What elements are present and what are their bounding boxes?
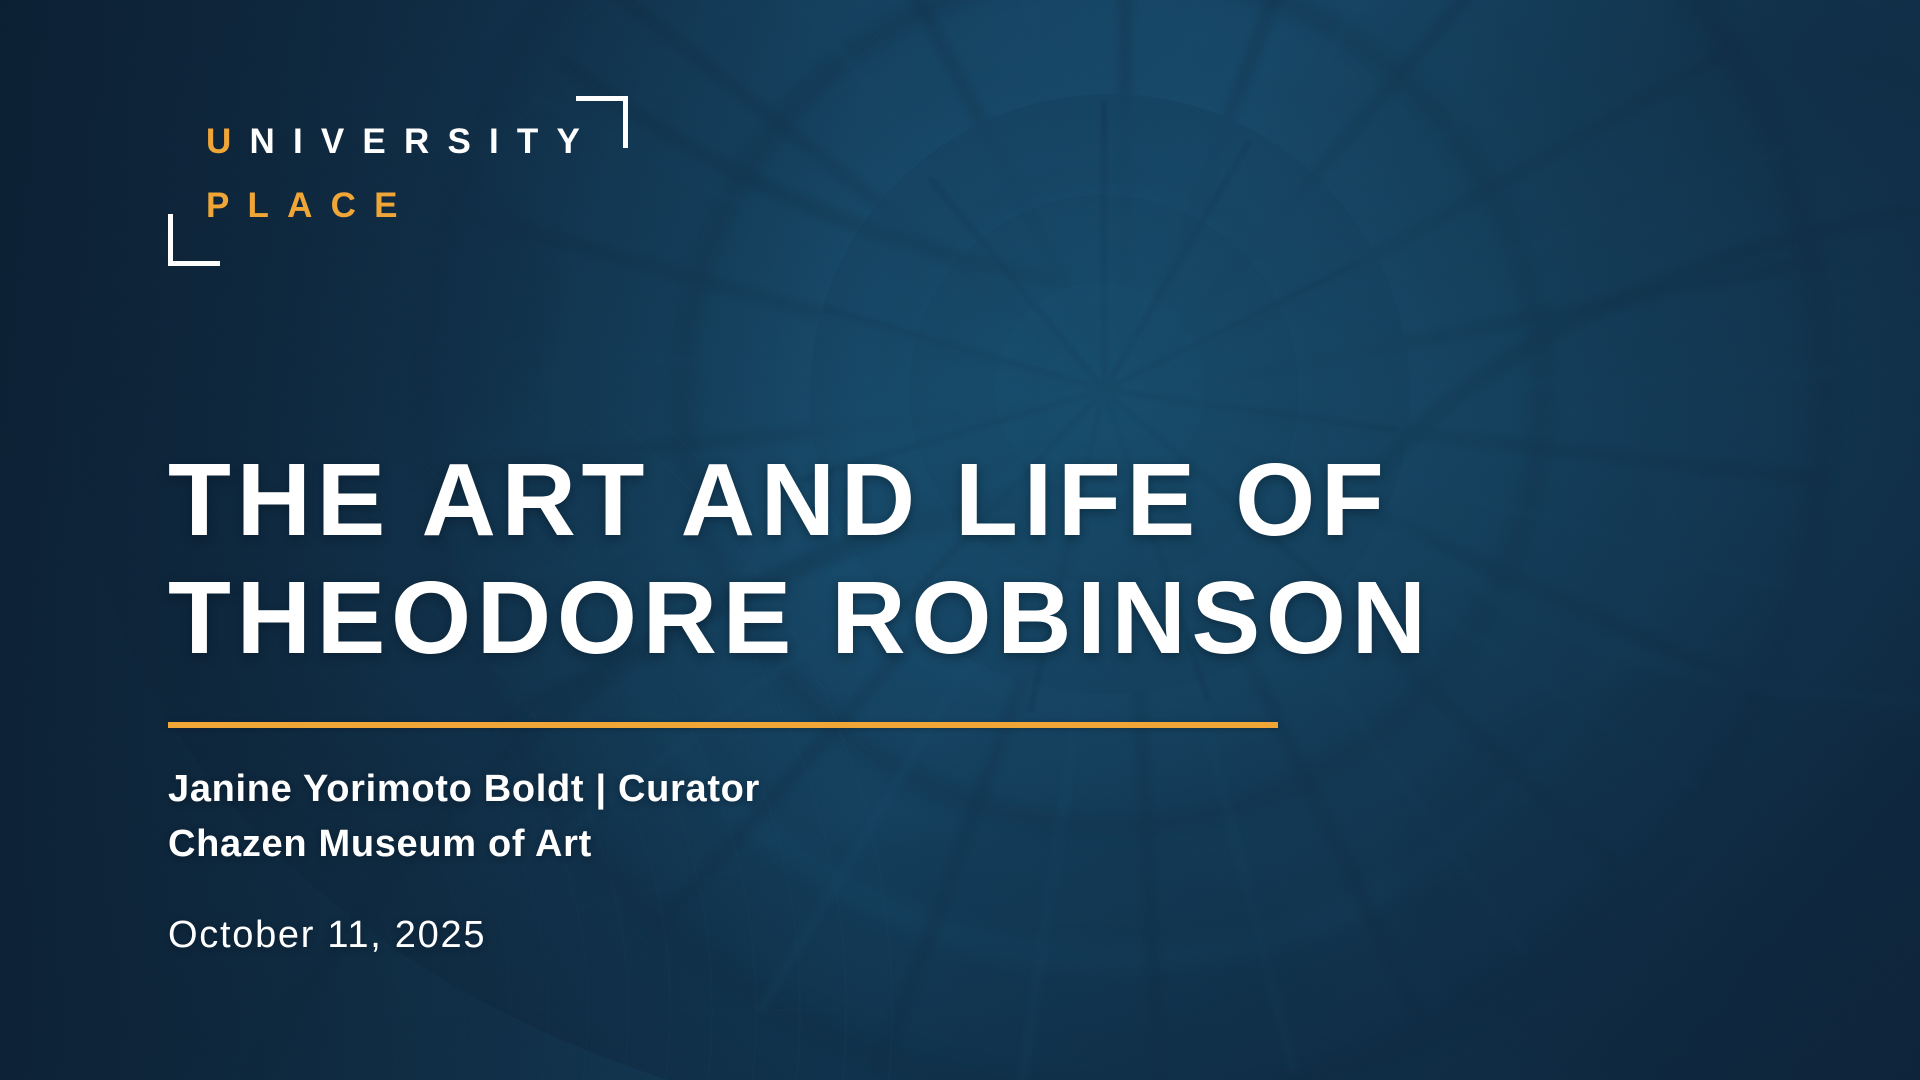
title-slide: UNIVERSITY PLACE THE ART AND LIFE OF THE… bbox=[0, 0, 1920, 1080]
logo-line-place: PLACE bbox=[206, 188, 416, 223]
logo-line-university: UNIVERSITY bbox=[206, 124, 598, 159]
page-title-line-1: THE ART AND LIFE OF bbox=[168, 441, 1588, 559]
logo-university-rest: NIVERSITY bbox=[249, 122, 598, 161]
page-title: THE ART AND LIFE OF THEODORE ROBINSON bbox=[168, 441, 1588, 678]
university-place-logo: UNIVERSITY PLACE bbox=[168, 96, 628, 266]
presenter-affiliation: Chazen Museum of Art bbox=[168, 817, 1268, 872]
accent-divider bbox=[168, 722, 1278, 728]
page-title-line-2: THEODORE ROBINSON bbox=[168, 559, 1588, 677]
presentation-date: October 11, 2025 bbox=[168, 914, 1268, 957]
bracket-bottom-left-icon bbox=[168, 214, 220, 266]
logo-accent-letter: U bbox=[206, 122, 249, 161]
presenter-block: Janine Yorimoto Boldt | Curator Chazen M… bbox=[168, 762, 1268, 957]
presenter-name-role: Janine Yorimoto Boldt | Curator bbox=[168, 762, 1268, 817]
